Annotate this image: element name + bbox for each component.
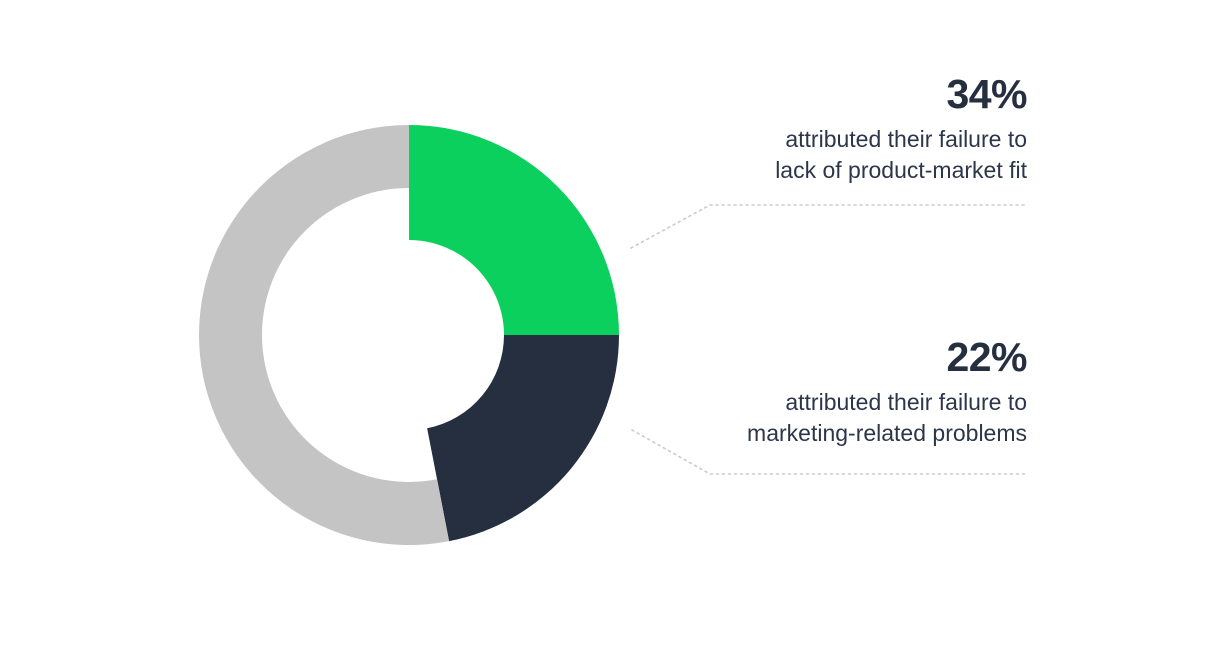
callout-description-marketing-problems: attributed their failure to marketing-re… (600, 387, 1027, 449)
callout-product-market-fit: 34% attributed their failure to lack of … (600, 70, 1027, 186)
callout-description-line-2: marketing-related problems (600, 418, 1027, 449)
callout-description-line-2: lack of product-market fit (600, 155, 1027, 186)
callout-list: 34% attributed their failure to lack of … (0, 0, 1220, 642)
donut-chart-infographic: 34% attributed their failure to lack of … (0, 0, 1220, 642)
callout-description-line-1: attributed their failure to (600, 387, 1027, 418)
callout-marketing-problems: 22% attributed their failure to marketin… (600, 333, 1027, 449)
callout-value-marketing-problems: 22% (600, 333, 1027, 381)
callout-description-product-market-fit: attributed their failure to lack of prod… (600, 124, 1027, 186)
callout-description-line-1: attributed their failure to (600, 124, 1027, 155)
callout-value-product-market-fit: 34% (600, 70, 1027, 118)
